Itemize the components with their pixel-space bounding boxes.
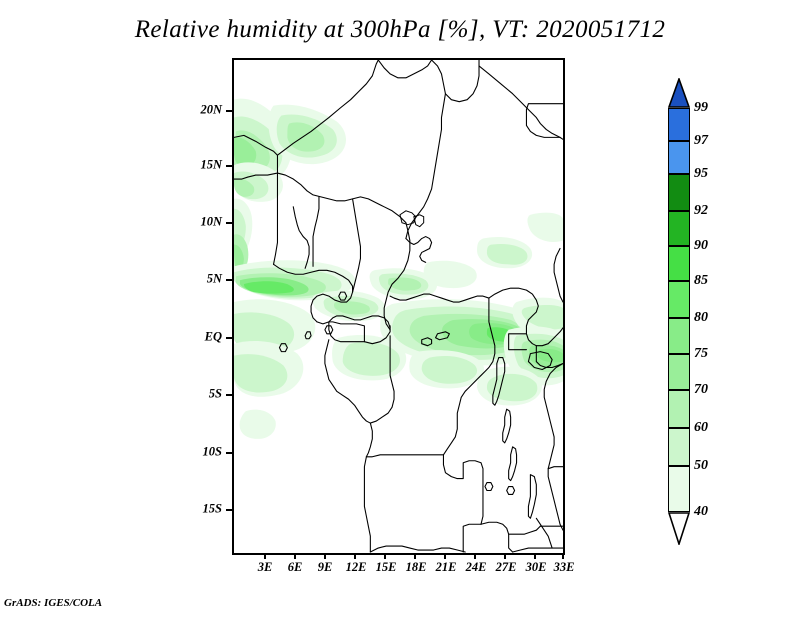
colorbar-label-70: 70: [694, 382, 708, 398]
x-tick-15E: [384, 553, 386, 559]
inland-water-layer: [400, 211, 424, 227]
y-axis-label-EQ: EQ: [178, 330, 222, 345]
humidity-shading-layer: [234, 99, 563, 439]
colorbar-band-85-90: [668, 246, 690, 281]
colorbar-top-arrow: [668, 78, 690, 108]
y-tick-5S: [226, 394, 232, 396]
colorbar-band-70-75: [668, 354, 690, 390]
map-plot-area[interactable]: [232, 58, 565, 555]
x-tick-18E: [414, 553, 416, 559]
x-axis-label-33E: 33E: [554, 560, 575, 575]
y-tick-20N: [226, 110, 232, 112]
colorbar-band-95-97: [668, 141, 690, 174]
colorbar-band-50-60: [668, 428, 690, 466]
x-axis-label-24E: 24E: [466, 560, 487, 575]
x-axis-label-12E: 12E: [346, 560, 367, 575]
x-axis-label-3E: 3E: [258, 560, 273, 575]
x-tick-27E: [504, 553, 506, 559]
x-axis-label-27E: 27E: [496, 560, 517, 575]
y-axis-label-5N: 5N: [178, 272, 222, 287]
y-tick-15N: [226, 165, 232, 167]
y-axis-label-10N: 10N: [178, 215, 222, 230]
x-axis-label-15E: 15E: [376, 560, 397, 575]
x-axis-label-6E: 6E: [288, 560, 303, 575]
colorbar-label-92: 92: [694, 203, 708, 219]
x-tick-12E: [354, 553, 356, 559]
colorbar-band-60-70: [668, 390, 690, 428]
x-tick-21E: [444, 553, 446, 559]
shading-sahel: [234, 99, 346, 202]
x-tick-9E: [324, 553, 326, 559]
colorbar-label-95: 95: [694, 166, 708, 182]
y-axis-label-5S: 5S: [178, 387, 222, 402]
x-axis-label-30E: 30E: [526, 560, 547, 575]
colorbar-band-40-50: [668, 466, 690, 512]
y-axis-label-10S: 10S: [178, 445, 222, 460]
colorbar-label-85: 85: [694, 273, 708, 289]
map-canvas: [234, 60, 563, 553]
colorbar-label-80: 80: [694, 310, 708, 326]
shading-northeast-edge: [424, 213, 563, 288]
x-tick-3E: [264, 553, 266, 559]
shading-west-coast: [234, 199, 252, 275]
y-tick-EQ: [226, 337, 232, 339]
x-axis-label-18E: 18E: [406, 560, 427, 575]
y-tick-10N: [226, 222, 232, 224]
y-tick-15S: [226, 509, 232, 511]
y-tick-10S: [226, 452, 232, 454]
colorbar-band-90-92: [668, 211, 690, 246]
grads-attribution: GrADS: IGES/COLA: [4, 597, 102, 609]
x-tick-6E: [294, 553, 296, 559]
colorbar-label-50: 50: [694, 458, 708, 474]
colorbar-bottom-arrow: [668, 512, 690, 545]
colorbar-label-97: 97: [694, 133, 708, 149]
colorbar[interactable]: [668, 78, 690, 545]
x-axis-label-21E: 21E: [436, 560, 457, 575]
grads-plot-page: Relative humidity at 300hPa [%], VT: 202…: [0, 0, 800, 618]
colorbar-label-40: 40: [694, 504, 708, 520]
y-tick-5N: [226, 279, 232, 281]
colorbar-label-60: 60: [694, 420, 708, 436]
colorbar-band-80-85: [668, 281, 690, 318]
page-title: Relative humidity at 300hPa [%], VT: 202…: [0, 16, 800, 44]
x-tick-24E: [474, 553, 476, 559]
y-axis-label-15N: 15N: [178, 158, 222, 173]
colorbar-label-99: 99: [694, 100, 708, 116]
colorbar-band-97-99: [668, 108, 690, 141]
colorbar-band-75-80: [668, 318, 690, 354]
colorbar-band-92-95: [668, 174, 690, 211]
x-tick-30E: [534, 553, 536, 559]
y-axis-label-20N: 20N: [178, 103, 222, 118]
colorbar-label-75: 75: [694, 346, 708, 362]
y-axis-label-15S: 15S: [178, 502, 222, 517]
x-tick-33E: [562, 553, 564, 559]
colorbar-label-90: 90: [694, 238, 708, 254]
x-axis-label-9E: 9E: [318, 560, 333, 575]
